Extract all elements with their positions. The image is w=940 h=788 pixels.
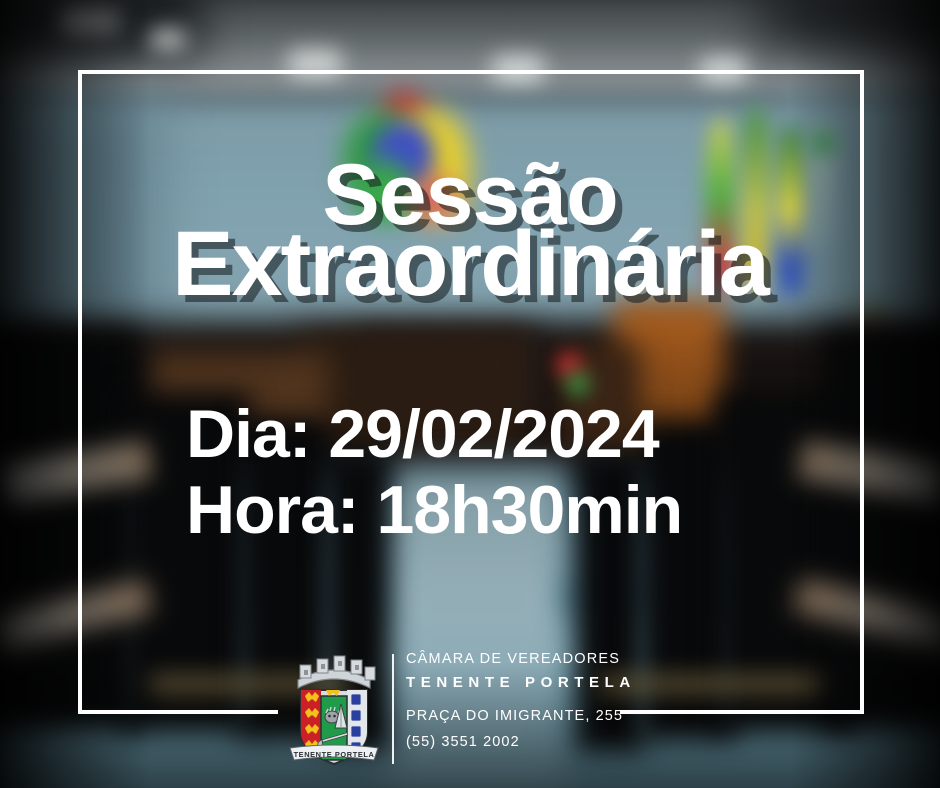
ceiling-light-5 [60,8,120,34]
footer-city-line: TENENTE PORTELA [406,670,706,696]
ceiling-light-3 [492,54,544,84]
footer-org-line: CÂMARA DE VEREADORES [406,648,706,670]
coat-of-arms-icon: TENENTE PORTELA [288,648,380,770]
event-time: Hora: 18h30min [186,474,682,546]
footer-divider [392,654,394,764]
footer-address-line: PRAÇA DO IMIGRANTE, 255 [406,696,706,730]
ceiling-light-1 [150,28,186,50]
crest-motto-text: TENENTE PORTELA [294,750,375,759]
frame-top [78,70,864,74]
footer-text-block: CÂMARA DE VEREADORES TENENTE PORTELA PRA… [406,648,706,754]
frame-bottom-left [78,710,278,714]
title-line-2: Extraordinária [0,218,940,310]
footer-phone-line: (55) 3551 2002 [406,730,706,754]
chair-row-8 [824,330,940,730]
event-date: Dia: 29/02/2024 [186,398,659,470]
ceiling-shadow-right [760,0,940,50]
flower-green [566,372,590,396]
poster-canvas: Sessão Extraordinária Dia: 29/02/2024 Ho… [0,0,940,788]
chair-row-1 [0,330,140,730]
footer-identity-block: TENENTE PORTELA CÂMARA DE VEREADORES TEN… [288,646,708,772]
